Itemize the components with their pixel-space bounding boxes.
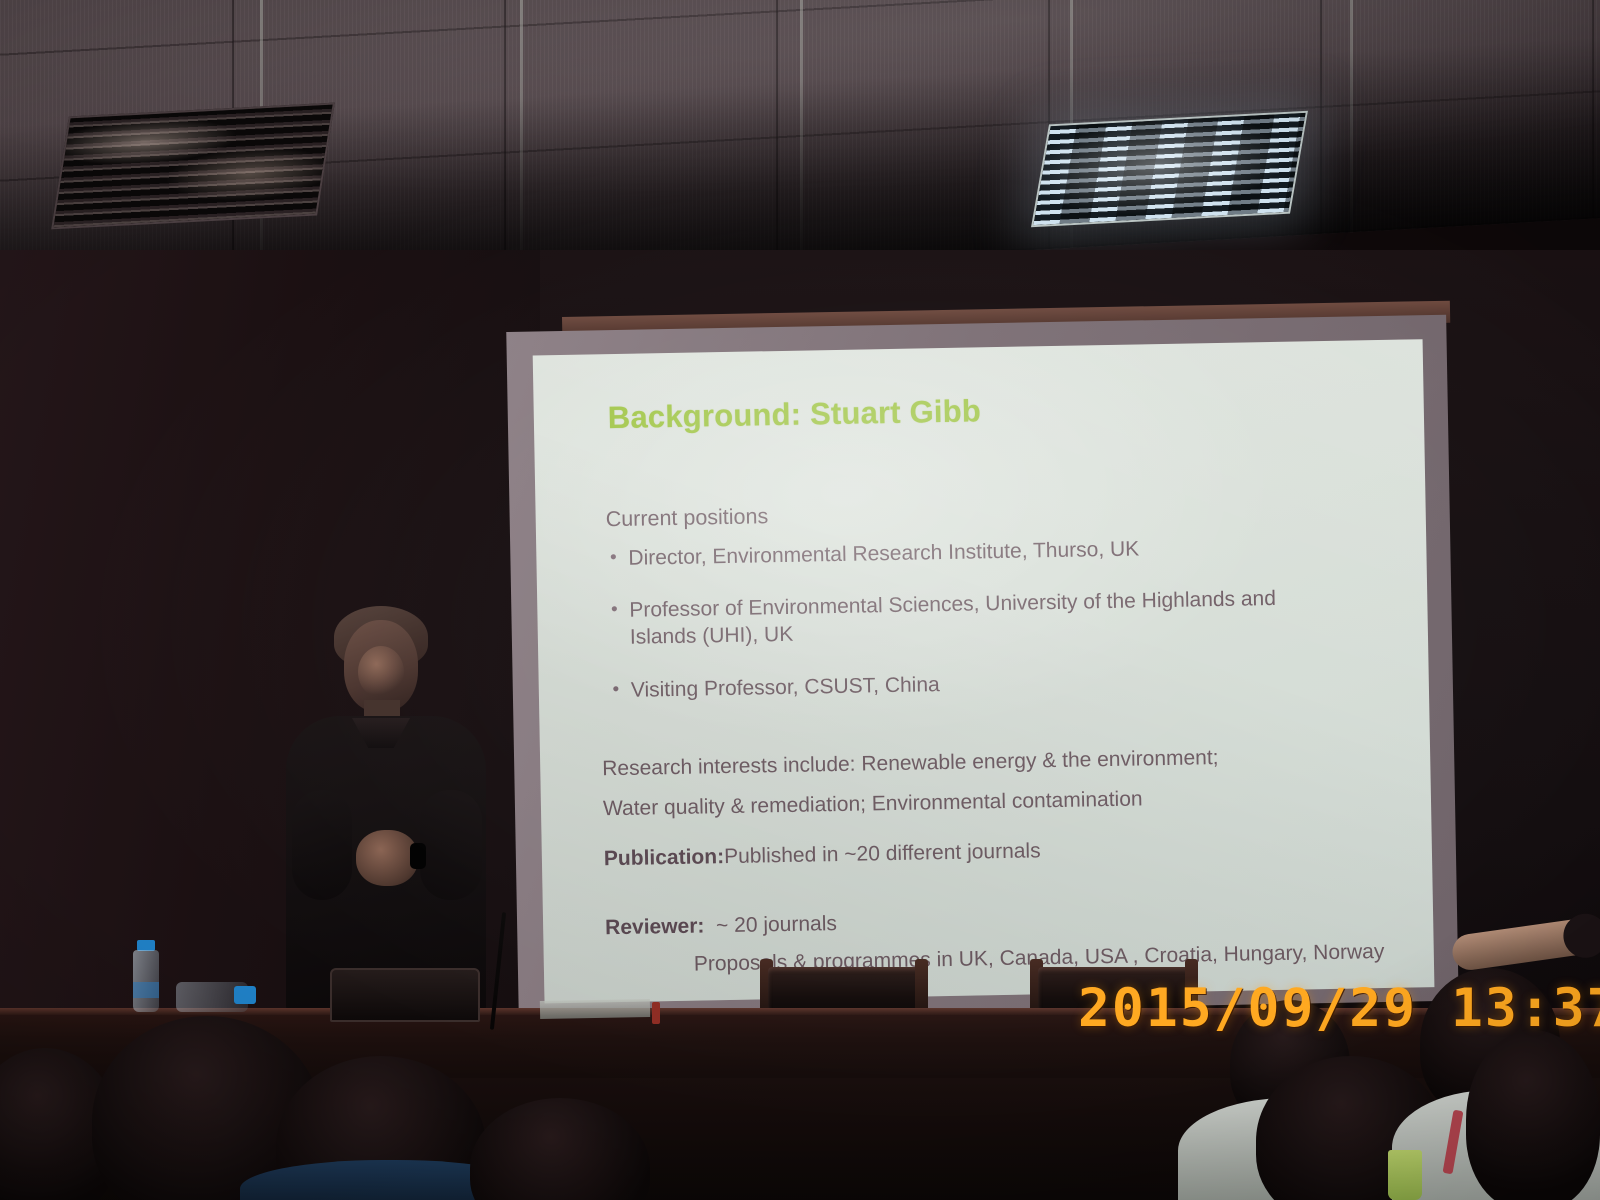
projected-slide: Background: Stuart Gibb Current position… bbox=[533, 339, 1435, 1003]
bullet-dot-icon: • bbox=[599, 598, 630, 652]
presenter-left-arm bbox=[292, 790, 352, 900]
publication-block: Publication:Published in ~20 different j… bbox=[604, 839, 1041, 871]
slide-body: Current positions • Director, Environmen… bbox=[597, 494, 1301, 732]
reviewer-label: Reviewer: bbox=[605, 914, 705, 939]
research-line-2: Water quality & remediation; Environment… bbox=[603, 782, 1303, 825]
publication-label: Publication: bbox=[604, 845, 725, 870]
bullet-text: Professor of Environmental Sciences, Uni… bbox=[629, 586, 1300, 652]
bullet-dot-icon: • bbox=[601, 678, 631, 705]
list-item: • Director, Environmental Research Insti… bbox=[598, 533, 1298, 573]
screen-border: Background: Stuart Gibb Current position… bbox=[506, 315, 1458, 1018]
bottle-label bbox=[133, 982, 159, 998]
bullet-text: Visiting Professor, CSUST, China bbox=[631, 666, 1301, 705]
louvre-reflections bbox=[53, 105, 332, 228]
list-item: • Professor of Environmental Sciences, U… bbox=[599, 586, 1300, 653]
publication-value: Published in ~20 different journals bbox=[724, 839, 1041, 868]
reviewer-value: ~ 20 journals bbox=[716, 912, 837, 937]
lecture-hall-photo: Background: Stuart Gibb Current position… bbox=[0, 0, 1600, 1200]
presenter-right-arm bbox=[420, 790, 482, 900]
bottle-body bbox=[133, 950, 159, 1012]
papers bbox=[540, 999, 650, 1019]
light-glow bbox=[1033, 113, 1305, 225]
slide-lead: Current positions bbox=[605, 494, 1297, 534]
ceiling-light-unlit-icon bbox=[51, 103, 335, 230]
research-interests-block: Research interests include: Renewable en… bbox=[602, 741, 1303, 835]
bullet-dot-icon: • bbox=[598, 545, 628, 572]
research-line-1: Research interests include: Renewable en… bbox=[602, 741, 1302, 784]
projection-screen: Background: Stuart Gibb Current position… bbox=[506, 301, 1459, 1018]
camera-timestamp: 2015/09/29 13:37 bbox=[1078, 978, 1600, 1039]
presenter-hands bbox=[356, 830, 418, 886]
slide-title: Background: Stuart Gibb bbox=[608, 393, 982, 436]
green-cup bbox=[1388, 1150, 1422, 1200]
list-item: • Visiting Professor, CSUST, China bbox=[601, 666, 1301, 706]
pen bbox=[652, 1002, 660, 1024]
bottle-cap bbox=[234, 986, 256, 1004]
presenter bbox=[268, 600, 518, 1030]
water-bottle-lying bbox=[176, 982, 248, 1012]
bullet-text: Director, Environmental Research Institu… bbox=[628, 533, 1298, 572]
presenter-face bbox=[358, 646, 404, 698]
water-bottle bbox=[132, 940, 160, 1012]
ceiling-light-lit-icon bbox=[1031, 111, 1308, 228]
laptop bbox=[330, 968, 480, 1022]
presenter-wristwatch bbox=[410, 843, 426, 869]
audience-head bbox=[1466, 1030, 1600, 1200]
